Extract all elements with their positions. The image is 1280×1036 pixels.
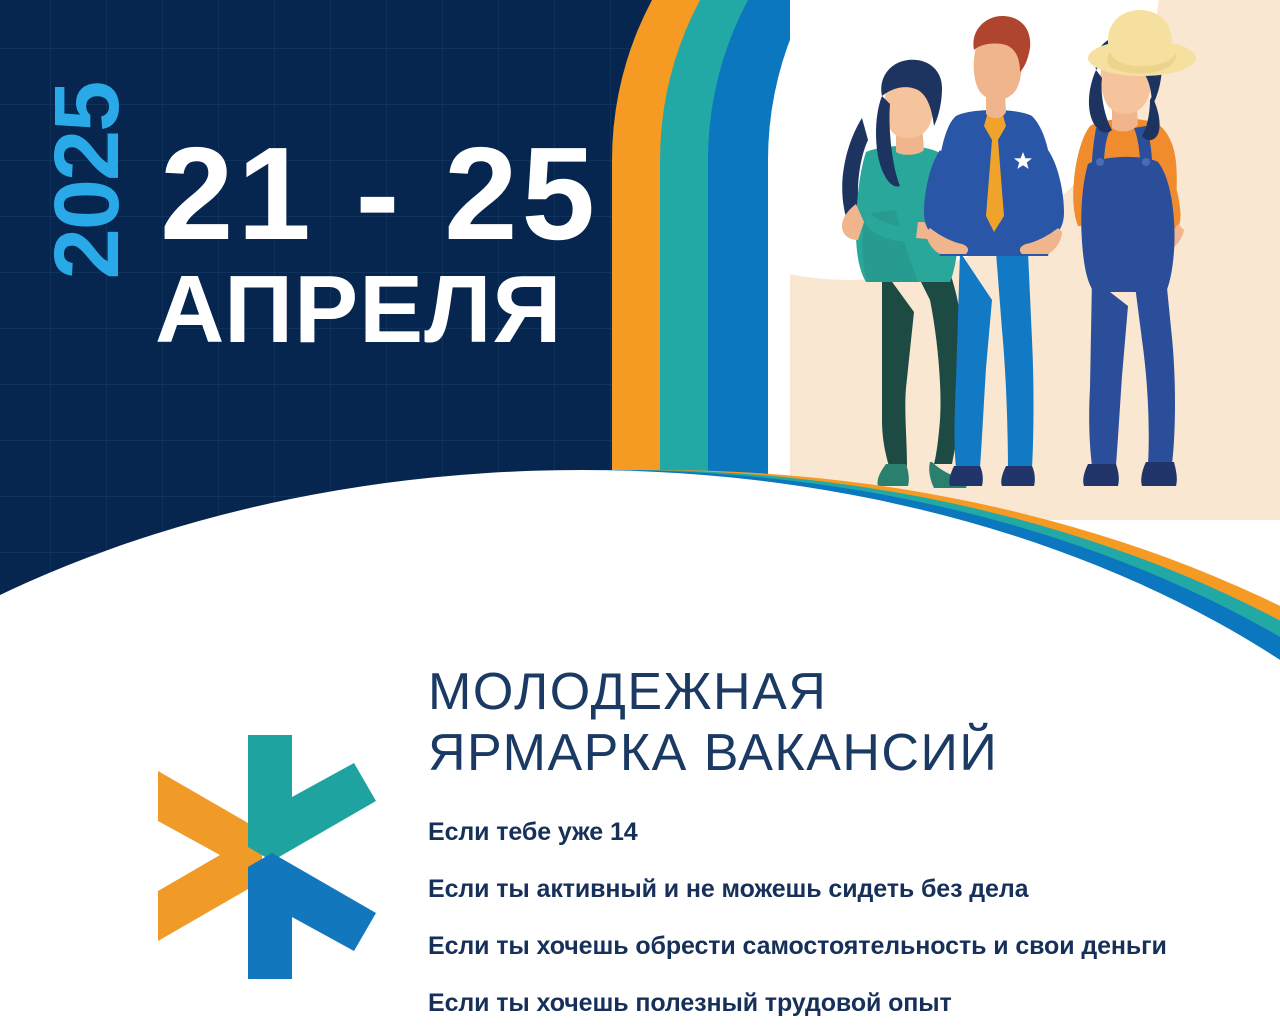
poster-canvas: 2025 21 - 25 АПРЕЛЯ МОЛОДЕЖНАЯ ЯРМАРКА В… bbox=[0, 0, 1280, 1036]
three-chevron-logo bbox=[140, 735, 390, 980]
logo-chevron-teal bbox=[248, 735, 376, 861]
date-range-label: 21 - 25 bbox=[160, 128, 599, 260]
bullet-item: Если ты хочешь обрести самостоятельность… bbox=[428, 934, 1258, 959]
figure-woman-hat bbox=[1073, 10, 1196, 486]
three-young-people-illustration bbox=[790, 0, 1280, 520]
bullet-list: Если тебе уже 14 Если ты активный и не м… bbox=[428, 820, 1258, 1036]
page-title: МОЛОДЕЖНАЯ ЯРМАРКА ВАКАНСИЙ bbox=[428, 662, 998, 785]
bullet-item: Если ты хочешь полезный трудовой опыт bbox=[428, 991, 1258, 1016]
bullet-item: Если тебе уже 14 bbox=[428, 820, 1258, 845]
logo-chevron-blue bbox=[248, 853, 376, 979]
bullet-item: Если ты активный и не можешь сидеть без … bbox=[428, 877, 1258, 902]
logo-chevron-orange bbox=[158, 771, 262, 941]
figure-woman-teal bbox=[842, 60, 967, 488]
year-label: 2025 bbox=[41, 56, 133, 306]
date-month-label: АПРЕЛЯ bbox=[155, 262, 562, 358]
headline-line-2: ЯРМАРКА ВАКАНСИЙ bbox=[428, 723, 998, 784]
headline-line-1: МОЛОДЕЖНАЯ bbox=[428, 663, 827, 721]
